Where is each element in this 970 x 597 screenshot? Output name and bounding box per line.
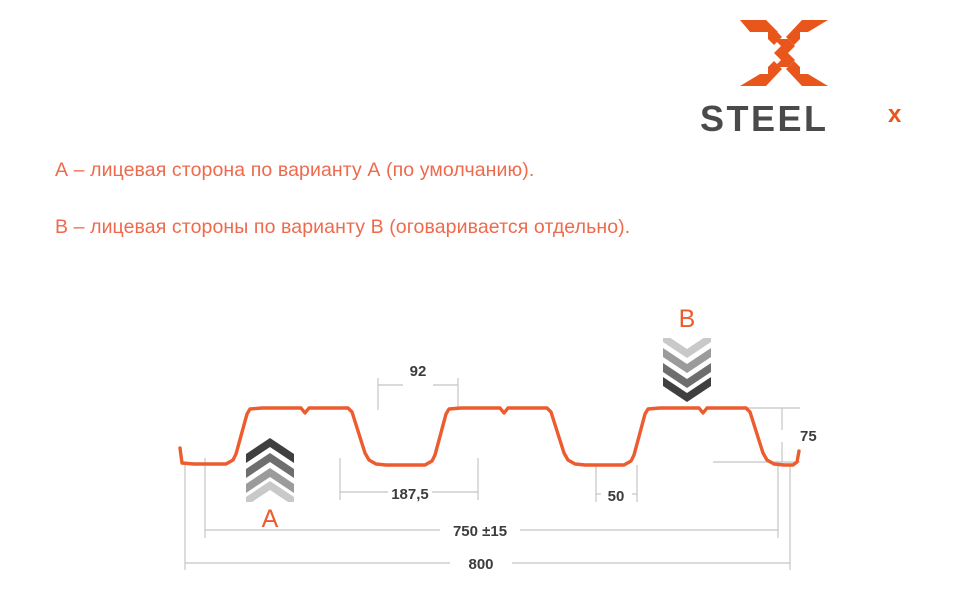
side-marker-letter-b: В — [661, 305, 713, 334]
profile-drawing: 92 187,5 50 75 750 ±15 800 — [0, 290, 970, 590]
brand-wordmark: STEEL x — [700, 100, 930, 140]
chevron-down-stack-icon — [661, 338, 713, 404]
brand-logo: STEEL x — [700, 18, 930, 143]
chevron-up-stack-icon — [244, 436, 296, 502]
note-variant-b: В – лицевая стороны по варианту В (огова… — [55, 216, 630, 239]
steelx-x-mark-icon — [738, 18, 830, 88]
dimension-label-50: 50 — [608, 488, 625, 505]
dimension-label-187-5: 187,5 — [391, 486, 429, 503]
dimension-label-750: 750 ±15 — [453, 523, 507, 540]
dimension-label-75: 75 — [800, 428, 817, 445]
dimension-label-800: 800 — [468, 556, 493, 573]
wordmark-steel-text: STEEL — [700, 100, 829, 139]
side-marker-letter-a: А — [244, 505, 296, 534]
dimension-label-92: 92 — [410, 363, 427, 380]
wordmark-x-text: x — [888, 101, 902, 128]
note-variant-a: А – лицевая сторона по варианту А (по ум… — [55, 159, 534, 182]
